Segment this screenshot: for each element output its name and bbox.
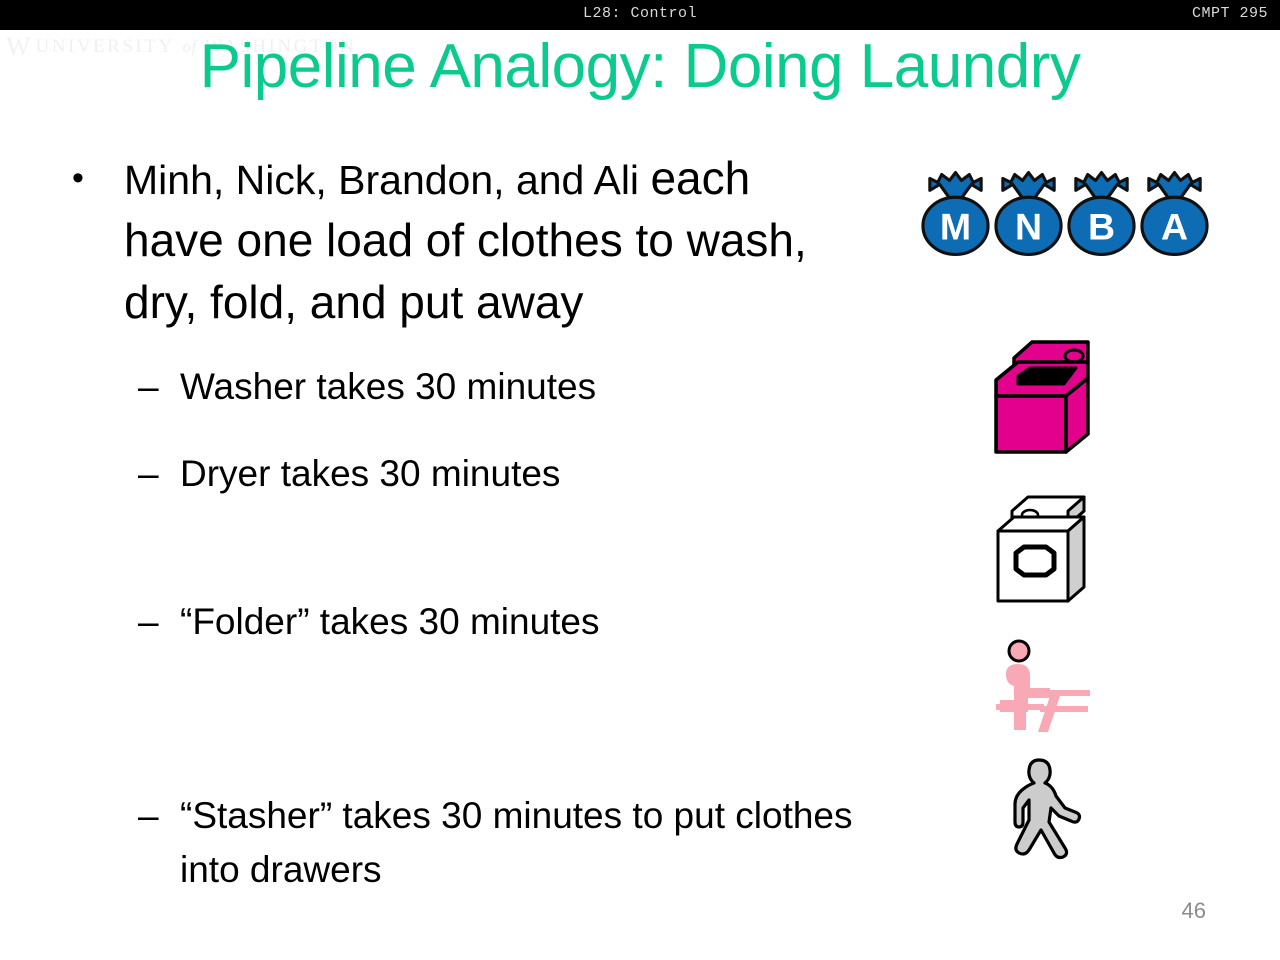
sub-bullet-folder-text: “Folder” takes 30 minutes: [180, 595, 898, 649]
sub-bullet-stasher: – “Stasher” takes 30 minutes to put clot…: [138, 789, 898, 897]
dash-marker-icon: –: [138, 360, 159, 414]
dash-marker-icon: –: [138, 447, 159, 501]
main-bullet: • Minh, Nick, Brandon, and Ali each have…: [72, 148, 862, 334]
bullet-marker-icon: •: [72, 148, 84, 208]
sub-bullet-washer: – Washer takes 30 minutes: [138, 360, 898, 414]
course-code: CMPT 295: [1192, 5, 1268, 22]
page-number: 46: [1182, 898, 1206, 924]
laundry-bag-b-label: B: [1088, 206, 1115, 248]
sub-bullet-dryer-text: Dryer takes 30 minutes: [180, 447, 898, 501]
laundry-bag-a-label: A: [1161, 206, 1188, 248]
sub-bullet-folder: – “Folder” takes 30 minutes: [138, 595, 898, 649]
sub-bullet-stasher-text: “Stasher” takes 30 minutes to put clothe…: [180, 789, 898, 897]
dash-marker-icon: –: [138, 789, 159, 843]
laundry-bag-b-icon: B: [1066, 168, 1137, 260]
dryer-icon: [990, 487, 1098, 607]
laundry-bag-a-icon: A: [1139, 168, 1210, 260]
laundry-bag-n-label: N: [1015, 206, 1042, 248]
laundry-bag-m-label: M: [940, 206, 971, 248]
washer-icon: [988, 332, 1100, 458]
dash-marker-icon: –: [138, 595, 159, 649]
main-bullet-text: Minh, Nick, Brandon, and Ali each have o…: [124, 148, 862, 334]
person-folding-at-table-icon: [988, 638, 1092, 734]
main-bullet-text-part1: Minh, Nick, Brandon, and Ali: [124, 157, 650, 203]
walking-person-icon: [995, 756, 1087, 866]
laundry-bags-group: M N B A: [920, 168, 1210, 260]
sub-bullet-washer-text: Washer takes 30 minutes: [180, 360, 898, 414]
laundry-bag-n-icon: N: [993, 168, 1064, 260]
slide-body: • Minh, Nick, Brandon, and Ali each have…: [0, 0, 920, 960]
laundry-bag-m-icon: M: [920, 168, 991, 260]
sub-bullet-dryer: – Dryer takes 30 minutes: [138, 447, 898, 501]
